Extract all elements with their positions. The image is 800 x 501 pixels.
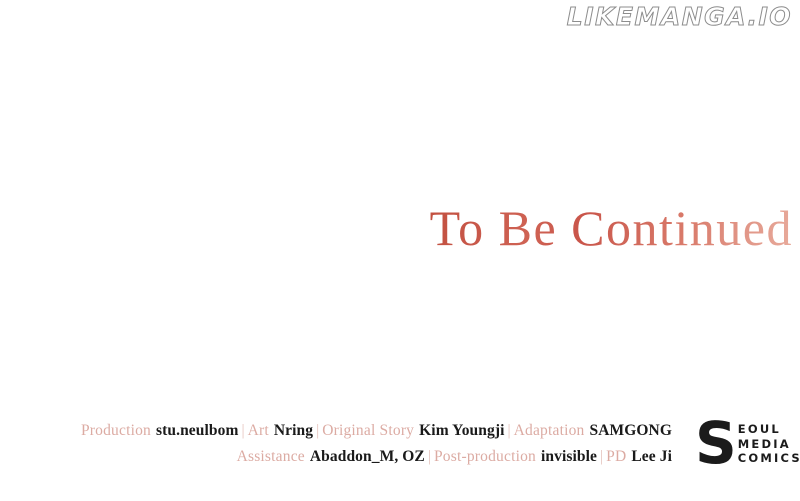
to-be-continued-headline: To Be Continued [430, 203, 793, 253]
credit-value-post-production: invisible [541, 448, 597, 465]
credit-value-art: Nring [274, 422, 313, 439]
credits-line-2: AssistanceAbaddon_M, OZ|Post-productioni… [0, 444, 672, 470]
credit-label-adaptation: Adaptation [514, 422, 585, 439]
credits-block: Productionstu.neulbom|ArtNring|Original … [0, 418, 672, 470]
credit-label-pd: PD [606, 448, 626, 465]
credit-label-assistance: Assistance [237, 448, 305, 465]
headline-container: To Be Continued [0, 203, 800, 253]
credit-separator: | [425, 448, 434, 465]
credit-value-adaptation: SAMGONG [589, 422, 672, 439]
credit-label-original-story: Original Story [322, 422, 414, 439]
credit-value-original-story: Kim Youngji [419, 422, 504, 439]
credit-label-post-production: Post-production [434, 448, 536, 465]
logo-line-eoul: EOUL [738, 422, 800, 437]
credit-separator: | [505, 422, 514, 439]
credits-line-1: Productionstu.neulbom|ArtNring|Original … [0, 418, 672, 444]
credit-value-pd: Lee Ji [631, 448, 672, 465]
comic-end-page: LIKEMANGA.IO To Be Continued Productions… [0, 0, 800, 501]
credit-separator: | [313, 422, 322, 439]
credit-value-production: stu.neulbom [156, 422, 239, 439]
site-watermark: LIKEMANGA.IO [567, 4, 792, 29]
credit-value-assistance: Abaddon_M, OZ [310, 448, 425, 465]
credit-label-art: Art [248, 422, 269, 439]
logo-wordmark: EOUL MEDIA COMICS [738, 422, 800, 466]
credit-label-production: Production [81, 422, 151, 439]
logo-line-comics: COMICS [738, 451, 800, 466]
logo-monogram-s: S [695, 420, 737, 466]
credit-separator: | [238, 422, 247, 439]
publisher-logo: S EOUL MEDIA COMICS [695, 419, 800, 466]
logo-line-media: MEDIA [738, 437, 800, 452]
credit-separator: | [597, 448, 606, 465]
